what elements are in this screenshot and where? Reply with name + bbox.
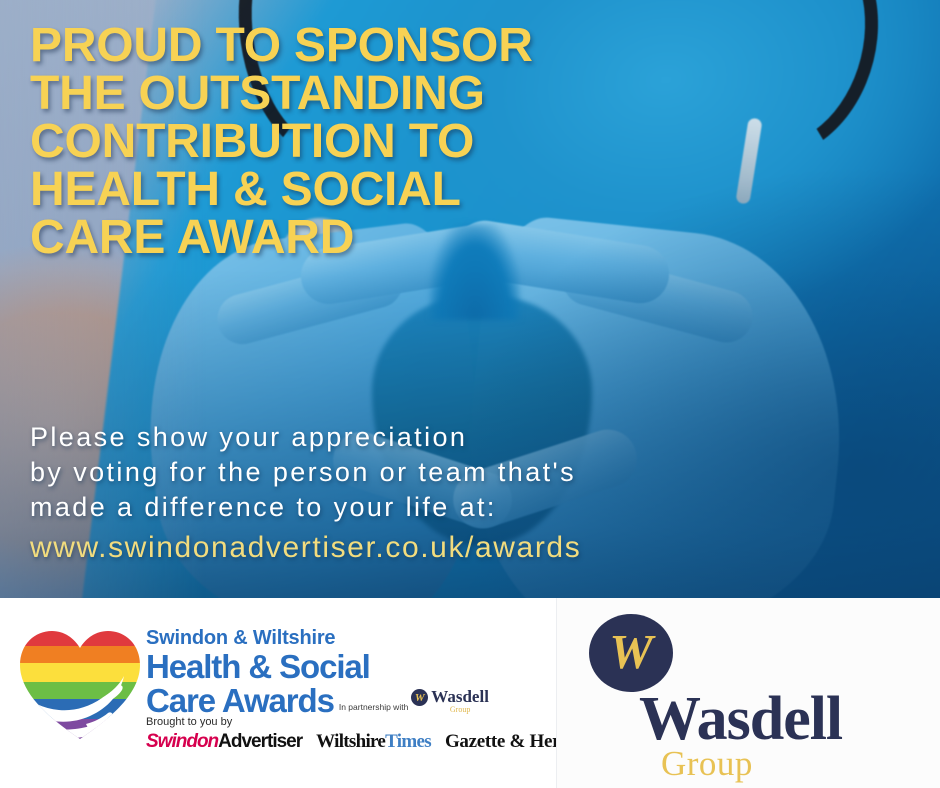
- wasdell-mark-icon: W: [589, 614, 673, 692]
- page-title: PROUD TO SPONSOR THE OUTSTANDING CONTRIB…: [30, 22, 670, 262]
- sponsor-poster: PROUD TO SPONSOR THE OUTSTANDING CONTRIB…: [0, 0, 940, 788]
- headline-line-5: CARE AWARD: [30, 214, 670, 262]
- partnership-lockup: In partnership with W Wasdell Group: [339, 688, 489, 717]
- awards-logo-panel: Swindon & Wiltshire Health & Social Care…: [0, 598, 556, 788]
- wasdell-logo-panel: W Wasdell Group: [556, 598, 940, 788]
- awards-line-2: Health & Social: [146, 650, 546, 684]
- wasdell-mini-name: Wasdell: [431, 688, 489, 705]
- wasdell-mini-mark-icon: W: [411, 689, 428, 706]
- body-line-3: made a difference to your life at:: [30, 490, 910, 525]
- wasdell-mark-letter: W: [609, 627, 653, 676]
- headline-line-1: PROUD TO SPONSOR: [30, 22, 670, 70]
- wasdell-mini-sub: Group: [450, 706, 470, 714]
- rainbow-heart-icon: [16, 624, 144, 742]
- headline-line-3: CONTRIBUTION TO: [30, 118, 670, 166]
- masthead-swindon-advertiser: Swindon Advertiser: [146, 731, 302, 753]
- awards-line-1: Swindon & Wiltshire: [146, 628, 546, 649]
- footer-logo-bar: Swindon & Wiltshire Health & Social Care…: [0, 598, 940, 788]
- headline-line-2: THE OUTSTANDING: [30, 70, 670, 118]
- wasdell-name: Wasdell: [639, 688, 842, 750]
- voting-url[interactable]: www.swindonadvertiser.co.uk/awards: [30, 531, 581, 565]
- awards-wordmark: Swindon & Wiltshire Health & Social Care…: [146, 628, 546, 717]
- call-to-action-text: Please show your appreciation by voting …: [30, 420, 910, 525]
- masthead-wiltshire-times: Wiltshire Times: [316, 731, 431, 753]
- brought-to-you-by-label: Brought to you by: [146, 716, 232, 728]
- partnership-label: In partnership with: [339, 702, 408, 714]
- body-line-2: by voting for the person or team that's: [30, 455, 910, 490]
- awards-line-3: Care Awards: [146, 684, 334, 718]
- wasdell-group-label: Group: [661, 746, 753, 781]
- body-line-1: Please show your appreciation: [30, 420, 910, 455]
- newspaper-mastheads: Swindon Advertiser Wiltshire Times Gazet…: [146, 731, 585, 753]
- headline-line-4: HEALTH & SOCIAL: [30, 166, 670, 214]
